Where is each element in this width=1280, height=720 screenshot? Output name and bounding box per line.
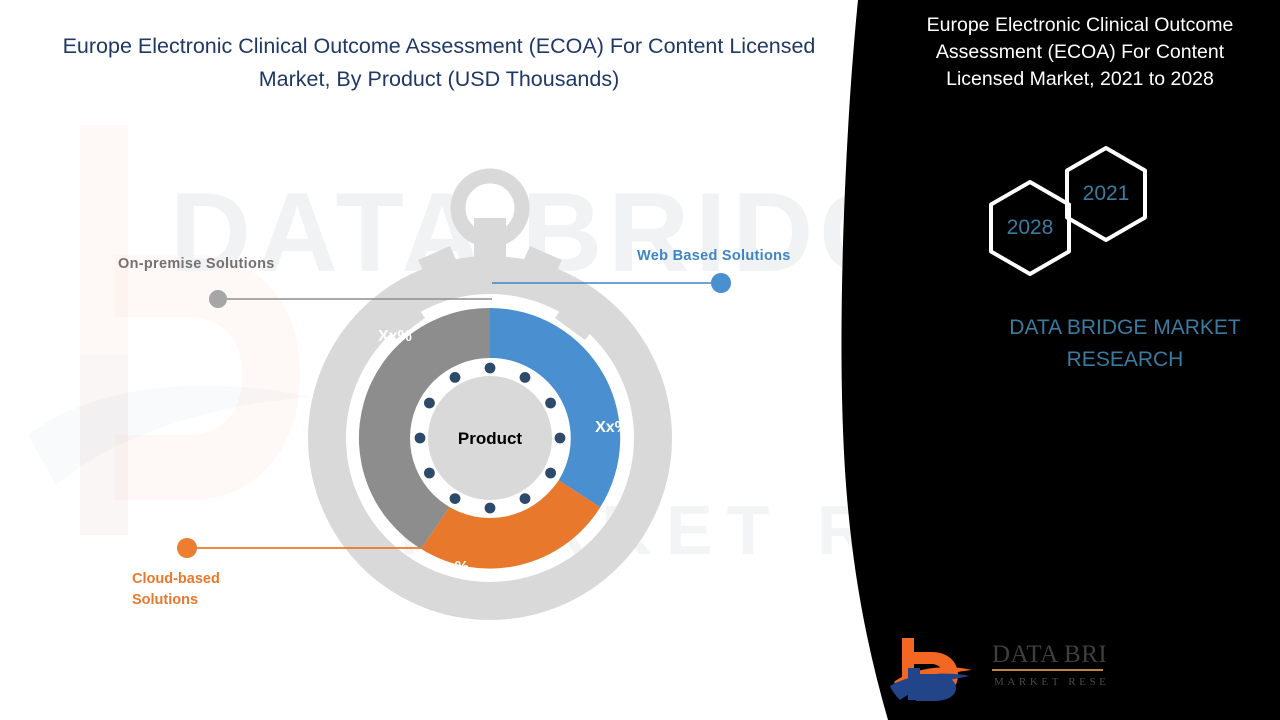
donut-chart: Product Xx% Xx% Xx% [300, 160, 680, 630]
hexagon-2028-label: 2028 [986, 216, 1074, 240]
hexagon-2021-label: 2021 [1062, 182, 1150, 206]
logo-wordmark: DATA BRIDGE [992, 641, 1108, 668]
callout-label-cloud-based-line2: Solutions [132, 590, 220, 611]
hexagon-2028: 2028 [986, 179, 1074, 277]
callout-label-cloud-based-line1: Cloud-based [132, 569, 220, 590]
segment-value-on-premise: Xx% [378, 328, 412, 345]
panel-brand-name: DATA BRIDGE MARKET RESEARCH [960, 312, 1280, 376]
callout-label-on-premise: On-premise Solutions [118, 256, 275, 272]
page-title: Europe Electronic Clinical Outcome Asses… [24, 30, 854, 96]
segment-value-cloud-based: Xx% [435, 559, 469, 576]
hexagon-2021: 2021 [1062, 145, 1150, 243]
center-label: Product [458, 429, 523, 448]
callout-label-web-based: Web Based Solutions [637, 248, 791, 264]
segment-value-web-based: Xx% [595, 419, 629, 436]
infographic-canvas: DATA BRIDGE MARKET RESEARCH Europe Elect… [0, 0, 1280, 720]
data-bridge-logo: DATA BRIDGE MARKET RESEARCH [888, 630, 1108, 702]
callout-label-cloud-based: Cloud-based Solutions [132, 569, 220, 611]
logo-mark-icon [890, 638, 972, 701]
hexagon-group: 2028 2021 [980, 145, 1180, 275]
panel-title: Europe Electronic Clinical Outcome Asses… [920, 12, 1240, 93]
logo-tagline: MARKET RESEARCH [994, 676, 1108, 688]
